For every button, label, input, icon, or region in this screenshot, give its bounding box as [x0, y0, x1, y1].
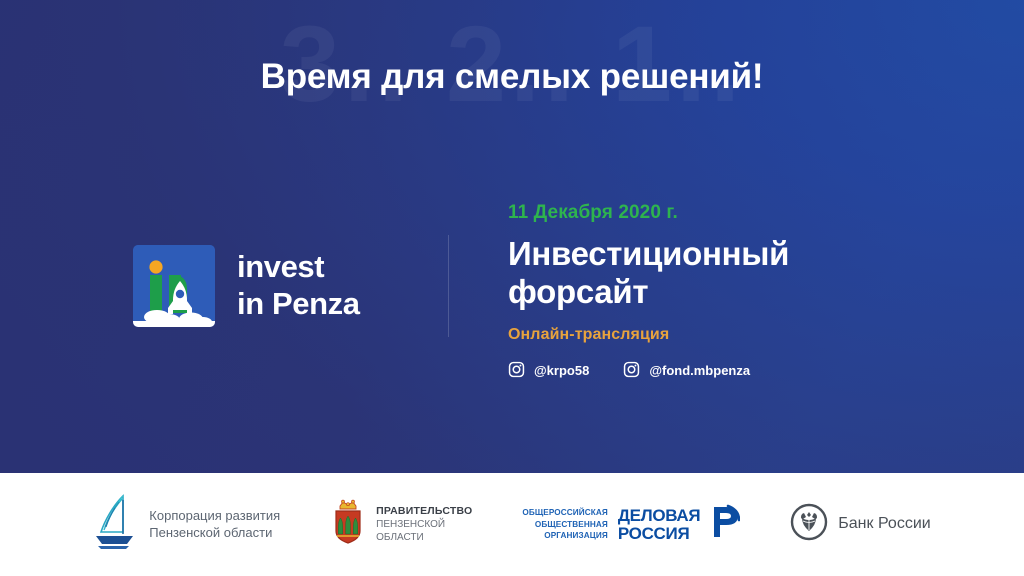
partner-government-line1: ПРАВИТЕЛЬСТВО — [376, 505, 472, 519]
partner-krpo: Корпорация развития Пензенской области — [93, 494, 280, 555]
page-title: Время для смелых решений! — [0, 58, 1024, 97]
vertical-divider — [448, 235, 449, 337]
partner-delovaya-rossiya-qualifier: ОБЩЕРОССИЙСКАЯ ОБЩЕСТВЕННАЯ ОРГАНИЗАЦИЯ — [522, 507, 607, 542]
event-info: 11 Декабря 2020 г. Инвестиционный форсай… — [508, 202, 928, 381]
partner-krpo-line1: Корпорация развития — [149, 508, 280, 525]
main-content: invest in Penza 11 Декабря 2020 г. Инвес… — [0, 190, 1024, 420]
social-handle: @krpo58 — [534, 363, 589, 378]
partner-dr-line1: ОБЩЕРОССИЙСКАЯ — [522, 507, 607, 519]
partner-government-text: ПРАВИТЕЛЬСТВО ПЕНЗЕНСКОЙ ОБЛАСТИ — [376, 505, 472, 545]
event-date: 11 Декабря 2020 г. — [508, 202, 928, 224]
brand-wordmark: invest in Penza — [237, 249, 360, 322]
partner-delovaya-rossiya-name: ДЕЛОВАЯ РОССИЯ — [618, 507, 700, 542]
partner-krpo-text: Корпорация развития Пензенской области — [149, 508, 280, 541]
partner-government-line3: ОБЛАСТИ — [376, 531, 472, 544]
event-title: Инвестиционный форсайт — [508, 235, 928, 312]
presentation-slide: 3.. 2.. 1.. Время для смелых решений! — [0, 0, 1024, 576]
brand-wordmark-line2: in Penza — [237, 286, 360, 323]
instagram-icon — [623, 361, 640, 381]
partner-bank-of-russia-text: Банк России — [838, 514, 930, 534]
partner-krpo-line2: Пензенской области — [149, 525, 280, 542]
partner-dr-line3: ОРГАНИЗАЦИЯ — [522, 530, 607, 542]
social-link-fond-mbpenza[interactable]: @fond.mbpenza — [623, 361, 750, 381]
sailboat-icon — [93, 494, 139, 555]
partner-bank-of-russia: Банк России — [790, 503, 930, 546]
brand-wordmark-line1: invest — [237, 249, 360, 286]
partner-delovaya-rossiya: ОБЩЕРОССИЙСКАЯ ОБЩЕСТВЕННАЯ ОРГАНИЗАЦИЯ … — [522, 504, 740, 545]
partner-dr-line2: ОБЩЕСТВЕННАЯ — [522, 519, 607, 531]
partner-dr-name2: РОССИЯ — [618, 525, 700, 542]
invest-in-penza-logomark — [133, 245, 215, 327]
partner-dr-name1: ДЕЛОВАЯ — [618, 507, 700, 524]
partner-government-line2: ПЕНЗЕНСКОЙ — [376, 518, 472, 531]
partner-footer: Корпорация развития Пензенской области — [0, 473, 1024, 576]
social-handle: @fond.mbpenza — [649, 363, 750, 378]
double-headed-eagle-icon — [790, 503, 828, 546]
event-format-label: Онлайн-трансляция — [508, 326, 928, 344]
event-title-line2: форсайт — [508, 273, 928, 311]
delovaya-rossiya-monogram-icon — [710, 504, 740, 545]
penza-coat-of-arms-icon — [330, 499, 366, 550]
instagram-icon — [508, 361, 525, 381]
partner-government: ПРАВИТЕЛЬСТВО ПЕНЗЕНСКОЙ ОБЛАСТИ — [330, 499, 472, 550]
social-links: @krpo58 @fond.mbpenza — [508, 361, 928, 381]
event-title-line1: Инвестиционный — [508, 235, 928, 273]
social-link-krpo58[interactable]: @krpo58 — [508, 361, 589, 381]
brand-lockup: invest in Penza — [133, 245, 360, 327]
